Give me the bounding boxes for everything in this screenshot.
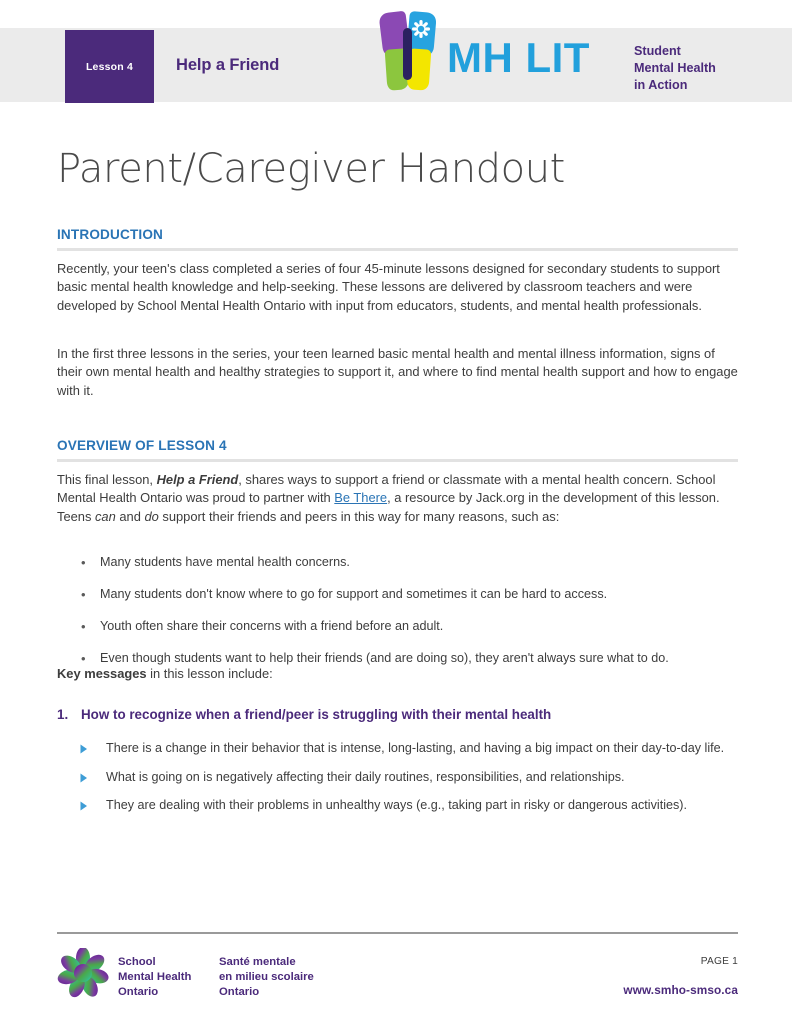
butterfly-logo-icon — [377, 8, 439, 96]
page-title: Parent/Caregiver Handout — [57, 147, 565, 191]
footer-website-link[interactable]: www.smho-smso.ca — [623, 983, 738, 997]
reasons-bullet-list: • Many students have mental health conce… — [72, 554, 742, 682]
brand-name: MH LIT — [447, 37, 590, 79]
overview-text-4: and — [116, 509, 145, 524]
bullet-dot-icon: • — [72, 586, 100, 604]
intro-paragraph-2: In the first three lessons in the series… — [57, 345, 739, 400]
list-item-label: They are dealing with their problems in … — [106, 797, 745, 815]
footer-org-name-en: School Mental Health Ontario — [118, 955, 191, 999]
key-messages-intro: Key messages in this lesson include: — [57, 665, 739, 683]
lesson-badge-label: Lesson 4 — [86, 61, 133, 73]
intro-paragraph-1: Recently, your teen's class completed a … — [57, 260, 739, 315]
footer-org-en-line-1: School — [118, 955, 191, 970]
list-item-label: Many students have mental health concern… — [100, 554, 742, 572]
overview-intro-paragraph: This final lesson, Help a Friend, shares… — [57, 471, 739, 526]
brand-tagline-line-3: in Action — [634, 77, 716, 94]
list-item: They are dealing with their problems in … — [80, 797, 745, 815]
footer-org-fr-line-3: Ontario — [219, 985, 314, 1000]
section-heading-overview: OVERVIEW OF LESSON 4 — [57, 438, 738, 462]
key-messages-label: Key messages — [57, 666, 147, 681]
arrow-right-icon — [80, 740, 106, 754]
numbered-item-heading-1: 1. How to recognize when a friend/peer i… — [57, 707, 739, 722]
list-item: There is a change in their behavior that… — [80, 740, 745, 758]
section-divider — [57, 459, 738, 462]
footer-divider — [57, 932, 738, 934]
list-item-label: What is going on is negatively affecting… — [106, 769, 745, 787]
page-number: PAGE 1 — [701, 956, 738, 967]
list-item: • Many students don't know where to go f… — [72, 586, 742, 604]
overview-text-5: support their friends and peers in this … — [159, 509, 560, 524]
footer-org-fr-line-1: Santé mentale — [219, 955, 314, 970]
brand-tagline: Student Mental Health in Action — [634, 43, 716, 94]
list-item: What is going on is negatively affecting… — [80, 769, 745, 787]
arrow-right-icon — [80, 797, 106, 811]
arrow-right-icon — [80, 769, 106, 783]
emphasis-do: do — [144, 509, 158, 524]
bullet-dot-icon: • — [72, 618, 100, 636]
section-heading-introduction: INTRODUCTION — [57, 227, 738, 251]
overview-text-1: This final lesson, — [57, 472, 157, 487]
numbered-item-number: 1. — [57, 707, 81, 722]
lesson-badge: Lesson 4 — [65, 30, 154, 103]
section-divider — [57, 248, 738, 251]
section-heading-text: INTRODUCTION — [57, 227, 738, 242]
key-messages-rest: in this lesson include: — [147, 666, 273, 681]
footer-org-name-fr: Santé mentale en milieu scolaire Ontario — [219, 955, 314, 999]
be-there-link[interactable]: Be There — [334, 490, 387, 505]
list-item-label: There is a change in their behavior that… — [106, 740, 745, 758]
list-item: • Youth often share their concerns with … — [72, 618, 742, 636]
numbered-item-label: How to recognize when a friend/peer is s… — [81, 707, 551, 722]
footer: School Mental Health Ontario Santé menta… — [0, 946, 792, 1016]
key-message-1-sub-list: There is a change in their behavior that… — [80, 740, 745, 826]
footer-org-fr-line-2: en milieu scolaire — [219, 970, 314, 985]
list-item: • Many students have mental health conce… — [72, 554, 742, 572]
emphasis-can: can — [95, 509, 116, 524]
list-item-label: Youth often share their concerns with a … — [100, 618, 742, 636]
smho-flower-icon — [57, 948, 109, 998]
brand-tagline-line-1: Student — [634, 43, 716, 60]
list-item-label: Many students don't know where to go for… — [100, 586, 742, 604]
brand-tagline-line-2: Mental Health — [634, 60, 716, 77]
bullet-dot-icon: • — [72, 554, 100, 572]
footer-org-en-line-2: Mental Health — [118, 970, 191, 985]
lesson-title: Help a Friend — [176, 56, 279, 75]
footer-org-en-line-3: Ontario — [118, 985, 191, 1000]
lesson-name-emphasis: Help a Friend — [157, 472, 239, 487]
section-heading-text: OVERVIEW OF LESSON 4 — [57, 438, 738, 453]
